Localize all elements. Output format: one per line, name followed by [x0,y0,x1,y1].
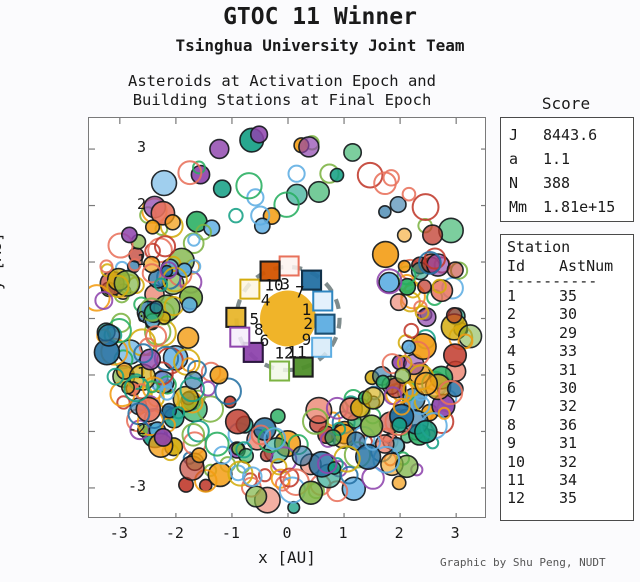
asteroid-marker [287,184,307,204]
asteroid-marker [398,228,411,241]
plot-svg: 123456789101112 [89,118,486,518]
table-row: 135 [507,287,633,305]
table-row: 630 [507,379,633,397]
asteroid-marker [178,327,199,348]
asteroid-marker [362,387,384,409]
table-row: 531 [507,361,633,379]
y-axis-label: y [AU] [0,232,5,290]
station-astnum: 32 [559,453,577,471]
station-label-7: 7 [295,282,305,301]
station-marker-3[interactable] [280,256,299,275]
asteroid-marker [392,418,406,432]
x-tick-label: -3 [99,524,139,542]
x-axis-label: x [AU] [88,548,486,567]
asteroid-marker [165,215,180,230]
asteroid-marker [299,137,319,157]
station-table-title: Station [507,238,633,257]
asteroid-marker [214,180,231,197]
score-row-mm: Mm1.81e+15 [509,195,633,219]
station-astnum: 35 [559,489,577,507]
score-row-n: N388 [509,171,633,195]
y-tick-label: 3 [106,138,146,156]
asteroid-marker [152,171,177,196]
score-panel: J8443.6a1.1N388Mm1.81e+15 [500,117,634,222]
x-tick-label: 2 [379,524,419,542]
axes-title-line1: Asteroids at Activation Epoch and [72,72,492,91]
asteroid-marker [403,188,416,201]
x-tick-label: -2 [155,524,195,542]
station-astnum: 31 [559,361,577,379]
scatter-plot-area[interactable]: 123456789101112 [88,117,486,518]
score-value: 1.81e+15 [543,198,615,216]
asteroid-marker [188,234,199,245]
y-tick-label: 0 [106,308,146,326]
asteroid-marker [447,262,463,278]
asteroid-marker [373,242,399,268]
station-astnum: 30 [559,305,577,323]
y-tick-label: -1 [106,364,146,382]
score-key: Mm [509,195,543,219]
axes-title: Asteroids at Activation Epoch and Buildi… [72,72,492,110]
station-marker-5[interactable] [226,308,245,327]
asteroid-marker [155,429,172,446]
asteroid-marker [361,415,383,437]
table-row: 230 [507,305,633,323]
station-id: 1 [507,287,559,305]
station-id: 7 [507,397,559,415]
y-tick-label: -3 [106,477,146,495]
station-id: 11 [507,471,559,489]
page-subtitle: Tsinghua University Joint Team [0,36,640,55]
asteroid-marker [292,446,311,465]
station-id: 2 [507,305,559,323]
asteroid-marker [206,433,229,456]
score-value: 1.1 [543,150,570,168]
station-astnum: 30 [559,379,577,397]
score-row-a: a1.1 [509,147,633,171]
score-key: J [509,123,543,147]
station-astnum: 29 [559,324,577,342]
asteroid-marker [98,325,119,346]
station-label-10: 10 [264,276,283,295]
station-id: 4 [507,342,559,360]
station-astnum: 31 [559,434,577,452]
asteroid-marker [210,366,227,383]
score-row-j: J8443.6 [509,123,633,147]
station-id: 5 [507,361,559,379]
table-row: 836 [507,416,633,434]
asteroid-marker [344,144,361,161]
score-key: N [509,171,543,195]
asteroid-marker [404,324,418,338]
asteroid-marker [210,140,229,159]
asteroid-marker [330,168,343,181]
axes-title-line2: Building Stations at Final Epoch [72,91,492,110]
asteroid-marker [379,206,391,218]
asteroid-marker [251,126,268,143]
station-astnum: 33 [559,342,577,360]
asteroid-marker [192,448,206,462]
asteroid-marker [413,194,439,220]
asteroid-marker [246,486,267,507]
station-marker-12[interactable] [270,362,289,381]
asteroid-marker [325,430,341,446]
station-astnum: 32 [559,397,577,415]
station-table-rule: ---------- [507,276,633,287]
table-row: 931 [507,434,633,452]
asteroid-marker [399,261,411,273]
station-label-12: 12 [274,343,293,362]
station-astnum: 36 [559,416,577,434]
asteroid-marker [122,227,137,242]
station-label-8: 8 [254,320,264,339]
asteroid-marker [402,341,415,354]
station-table-panel: Station IdAstNum ---------- 135230329433… [500,234,634,521]
table-row: 732 [507,397,633,415]
x-tick-label: 1 [323,524,363,542]
asteroid-marker [415,373,437,395]
table-row: 1032 [507,453,633,471]
y-tick-label: -2 [106,420,146,438]
asteroid-marker [229,209,242,222]
asteroid-marker [392,476,405,489]
station-table-body: 135230329433531630732836931103211341235 [507,287,633,508]
asteroid-marker [182,297,197,312]
asteroid-marker [309,182,330,203]
y-tick-label: 1 [106,251,146,269]
table-row: 1235 [507,489,633,507]
asteroid-marker [376,375,389,388]
x-tick-label: -1 [211,524,251,542]
station-astnum: 35 [559,287,577,305]
asteroid-marker [447,308,462,323]
station-marker-2[interactable] [315,315,334,334]
asteroid-marker [391,294,407,310]
station-id: 3 [507,324,559,342]
table-row: 329 [507,324,633,342]
asteroid-marker [395,368,410,383]
station-id: 8 [507,416,559,434]
x-tick-label: 0 [267,524,307,542]
asteroid-marker [423,225,443,245]
page-title: GTOC 11 Winner [0,4,640,30]
asteroid-marker [299,481,322,504]
asteroid-marker [178,263,192,277]
figure-canvas: GTOC 11 Winner Tsinghua University Joint… [0,0,640,582]
station-id: 10 [507,453,559,471]
y-tick-label: 2 [106,195,146,213]
asteroid-marker [226,409,250,433]
station-id: 12 [507,489,559,507]
asteroid-marker [439,218,463,242]
asteroid-marker [444,344,466,366]
station-astnum: 34 [559,471,577,489]
asteroid-marker [418,280,431,293]
x-tick-label: 3 [435,524,475,542]
score-value: 388 [543,174,570,192]
station-marker-1[interactable] [313,291,332,310]
asteroid-marker [236,173,261,198]
station-marker-4[interactable] [240,280,259,299]
asteroid-marker [415,421,437,443]
station-marker-8[interactable] [230,328,249,347]
asteroid-marker [288,166,304,182]
asteroid-marker [379,273,399,293]
station-marker-9[interactable] [312,338,331,357]
score-header: Score [496,94,636,113]
credit-text: Graphic by Shu Peng, NUDT [440,556,640,569]
score-key: a [509,147,543,171]
station-id: 9 [507,434,559,452]
station-id: 6 [507,379,559,397]
station-marker-7[interactable] [302,271,321,290]
asteroid-marker [146,220,160,234]
asteroid-marker [150,301,162,313]
table-row: 1134 [507,471,633,489]
table-row: 433 [507,342,633,360]
score-value: 8443.6 [543,126,597,144]
